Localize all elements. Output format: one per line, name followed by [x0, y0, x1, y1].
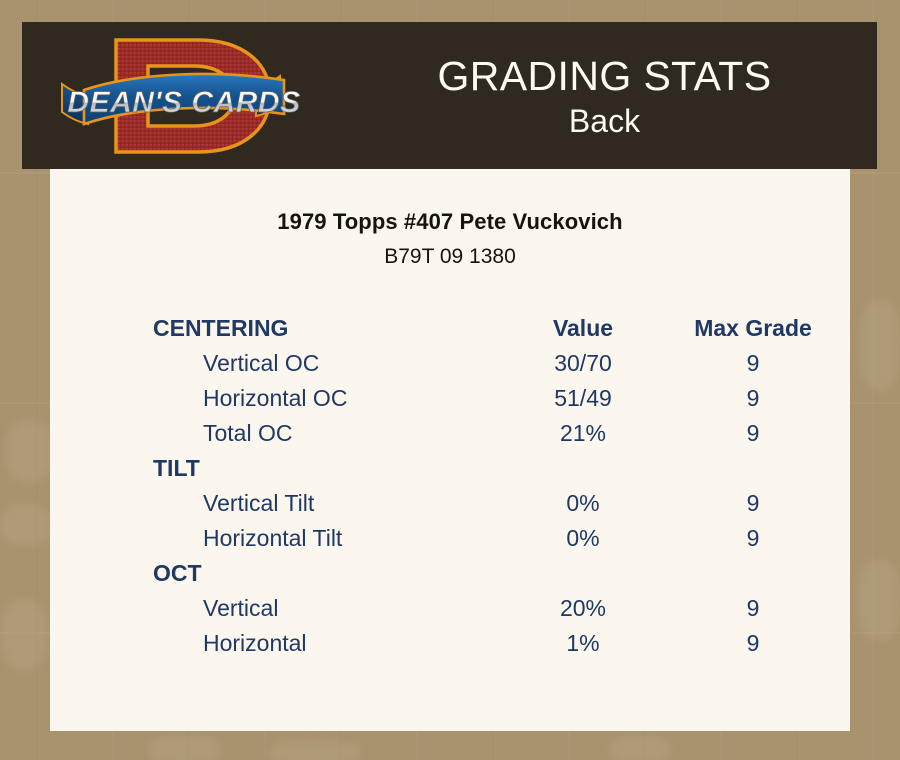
- table-row: Total OC21%9: [153, 416, 813, 451]
- row-value: 0%: [503, 521, 663, 556]
- table-row: Vertical OC30/709: [153, 346, 813, 381]
- row-max-grade: 9: [673, 591, 833, 626]
- row-max-grade: 9: [673, 626, 833, 661]
- section-header-row: CENTERINGValueMax Grade: [153, 311, 813, 346]
- row-label: Total OC: [153, 416, 292, 451]
- row-max-grade: 9: [673, 346, 833, 381]
- row-value: 1%: [503, 626, 663, 661]
- row-label: Vertical OC: [153, 346, 319, 381]
- row-max-grade: 9: [673, 486, 833, 521]
- table-row: Vertical Tilt0%9: [153, 486, 813, 521]
- row-label: Vertical Tilt: [153, 486, 314, 521]
- row-label: Vertical: [153, 591, 278, 626]
- row-label: Horizontal OC: [153, 381, 347, 416]
- row-max-grade: 9: [673, 381, 833, 416]
- row-value: 51/49: [503, 381, 663, 416]
- header-title-block: GRADING STATS Back: [332, 22, 877, 169]
- table-row: Horizontal Tilt0%9: [153, 521, 813, 556]
- row-label: Horizontal: [153, 626, 307, 661]
- row-value: 30/70: [503, 346, 663, 381]
- section-header-row: TILT: [153, 451, 813, 486]
- logo-ribbon-text: DEAN'S CARDS: [67, 86, 300, 119]
- page-subtitle: Back: [569, 102, 640, 140]
- grading-stats-table: CENTERINGValueMax GradeVertical OC30/709…: [153, 311, 813, 661]
- row-max-grade: 9: [673, 416, 833, 451]
- row-max-grade: 9: [673, 521, 833, 556]
- screenshot-root: DEAN'S CARDS GRADING STATS Back 1979 Top…: [0, 0, 900, 760]
- table-row: Horizontal OC51/499: [153, 381, 813, 416]
- column-header-max-grade: Max Grade: [673, 311, 833, 346]
- column-header-value: Value: [503, 311, 663, 346]
- section-header-row: OCT: [153, 556, 813, 591]
- content-panel: 1979 Topps #407 Pete Vuckovich B79T 09 1…: [50, 169, 850, 731]
- table-row: Vertical20%9: [153, 591, 813, 626]
- page-title: GRADING STATS: [438, 52, 772, 100]
- section-title: TILT: [153, 451, 200, 486]
- table-row: Horizontal1%9: [153, 626, 813, 661]
- card-subtitle: B79T 09 1380: [50, 245, 850, 269]
- header-bar: DEAN'S CARDS GRADING STATS Back: [22, 22, 877, 169]
- deans-cards-logo[interactable]: DEAN'S CARDS: [48, 28, 320, 164]
- row-value: 20%: [503, 591, 663, 626]
- section-title: CENTERING: [153, 311, 288, 346]
- row-label: Horizontal Tilt: [153, 521, 342, 556]
- section-title: OCT: [153, 556, 202, 591]
- row-value: 0%: [503, 486, 663, 521]
- row-value: 21%: [503, 416, 663, 451]
- card-title: 1979 Topps #407 Pete Vuckovich: [50, 209, 850, 235]
